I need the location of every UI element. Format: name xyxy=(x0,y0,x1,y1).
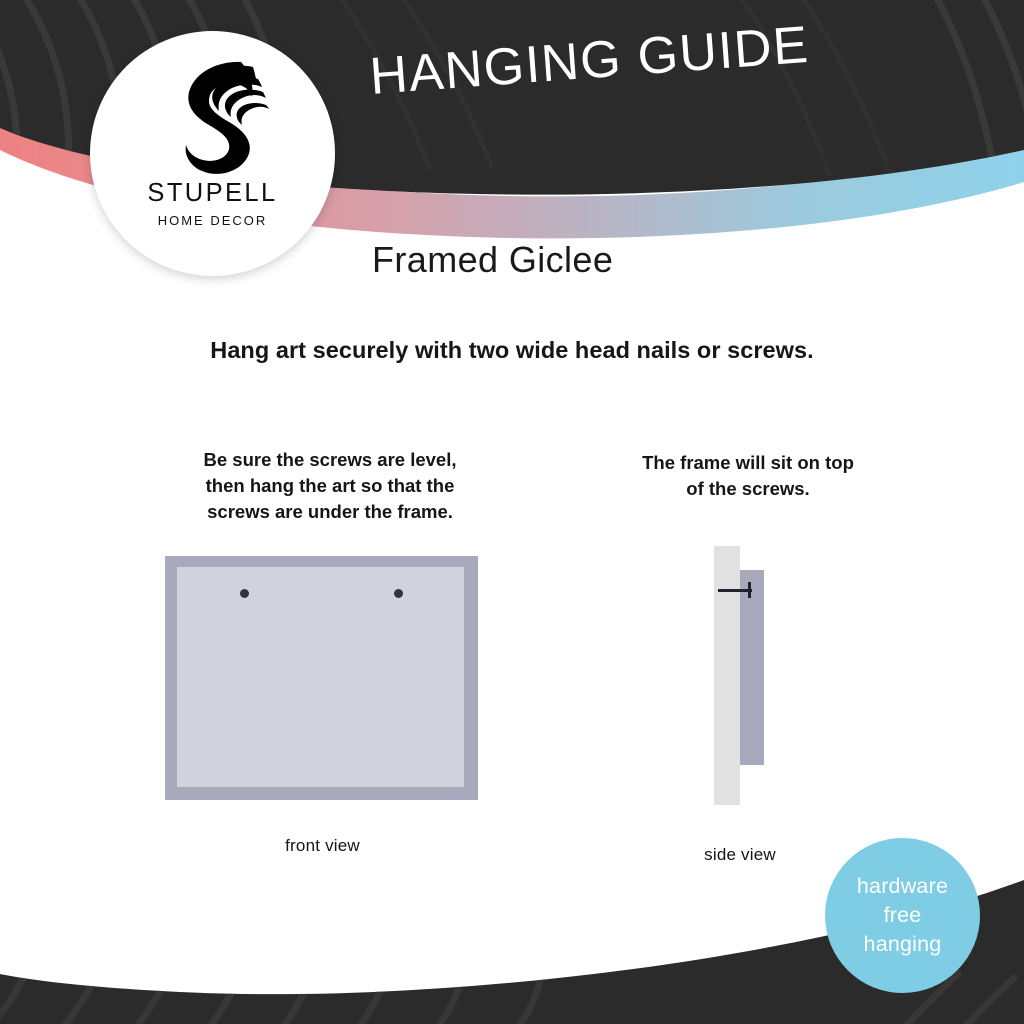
side-caption-line-1: The frame will sit on top xyxy=(598,450,898,476)
badge-line-3: hanging xyxy=(864,930,942,959)
front-caption-line-3: screws are under the frame. xyxy=(150,499,510,525)
page-title: HANGING GUIDE xyxy=(368,9,891,107)
front-view-frame-diagram xyxy=(165,556,478,800)
screw-dot-left xyxy=(240,589,249,598)
nail-shaft-icon xyxy=(718,589,752,592)
side-view-wall xyxy=(714,546,740,805)
front-view-caption: Be sure the screws are level, then hang … xyxy=(150,447,510,525)
badge-line-1: hardware xyxy=(857,872,948,901)
stupell-swoosh-logo-icon xyxy=(157,59,269,177)
logo-wordmark: STUPELL xyxy=(147,181,277,207)
side-caption-line-2: of the screws. xyxy=(598,476,898,502)
front-caption-line-2: then hang the art so that the xyxy=(150,473,510,499)
brand-logo-badge: STUPELL HOME DECOR xyxy=(90,31,335,276)
nail-head-icon xyxy=(748,582,751,598)
frame-artwork-area xyxy=(177,567,464,787)
badge-line-2: free xyxy=(884,901,922,930)
side-view-caption: The frame will sit on top of the screws. xyxy=(598,450,898,502)
product-type-heading: Framed Giclee xyxy=(372,239,613,281)
screw-dot-right xyxy=(394,589,403,598)
front-caption-line-1: Be sure the screws are level, xyxy=(150,447,510,473)
side-view-label: side view xyxy=(655,845,825,865)
hanging-guide-infographic: STUPELL HOME DECOR HANGING GUIDE Framed … xyxy=(0,0,1024,1024)
front-view-label: front view xyxy=(150,836,495,856)
hardware-free-hanging-badge: hardware free hanging xyxy=(825,838,980,993)
side-view-frame xyxy=(740,570,764,765)
lead-instruction: Hang art securely with two wide head nai… xyxy=(0,337,1024,364)
logo-subword: HOME DECOR xyxy=(158,214,268,227)
